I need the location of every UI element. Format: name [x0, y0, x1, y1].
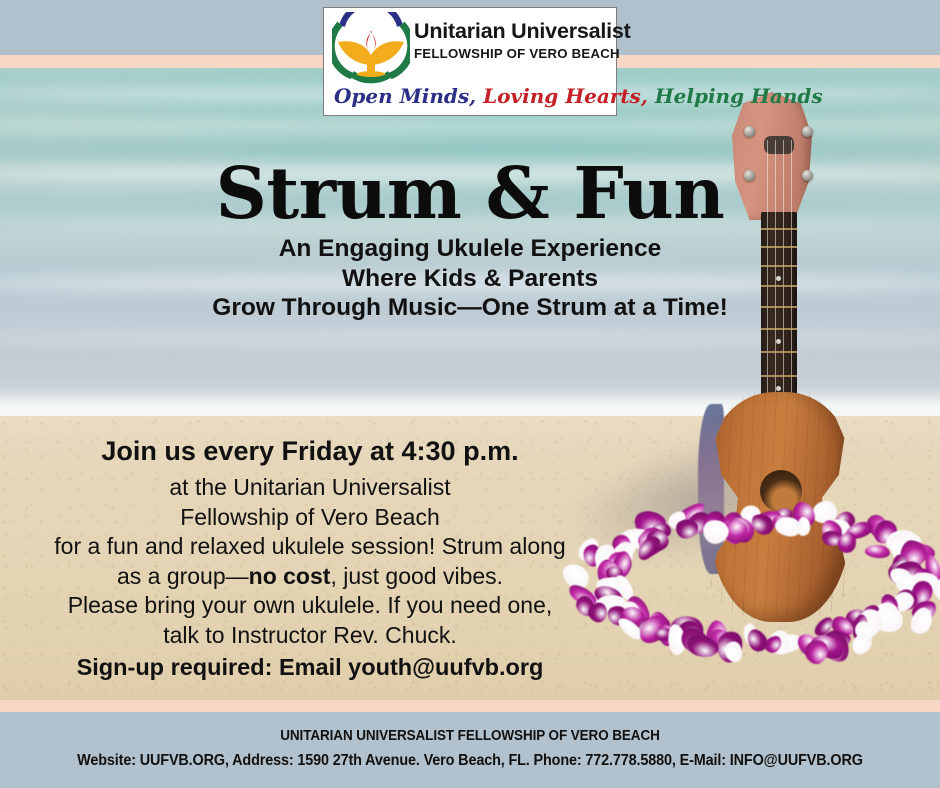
body-line-invite: for a fun and relaxed ukulele session! S…: [30, 532, 590, 562]
subhead-line: Grow Through Music—One Strum at a Time!: [0, 293, 940, 323]
fret-inlay-dot: [776, 386, 781, 391]
flaming-chalice-icon: [332, 12, 410, 86]
orchid-lei: [585, 505, 933, 655]
tagline-open-minds: Open Minds,: [334, 84, 476, 108]
headstock-logo-plate: [764, 136, 794, 154]
footer-contact-info: Website: UUFVB.ORG, Address: 1590 27th A…: [33, 752, 907, 770]
tagline-loving-hearts: Loving Hearts,: [483, 84, 648, 108]
fret: [761, 375, 797, 377]
logo-subtitle: FELLOWSHIP OF VERO BEACH: [414, 46, 631, 61]
body-line-instructor: talk to Instructor Rev. Chuck.: [30, 621, 590, 651]
uufvb-logo-box: Unitarian Universalist FELLOWSHIP OF VER…: [323, 7, 617, 116]
tuning-peg: [802, 126, 813, 137]
no-cost-emphasis: no cost: [249, 563, 331, 589]
flyer-body-copy: Join us every Friday at 4:30 p.m. at the…: [30, 434, 590, 682]
lei-petal: [675, 519, 699, 539]
logo-title: Unitarian Universalist: [414, 20, 631, 43]
tagline-helping-hands: Helping Hands: [655, 84, 823, 108]
body-line-venue-1: at the Unitarian Universalist: [30, 473, 590, 503]
bottom-peach-stripe: [0, 700, 940, 712]
cost-line-prefix: as a group—: [117, 563, 249, 589]
event-time-line: Join us every Friday at 4:30 p.m.: [30, 434, 590, 468]
flyer-headline: Strum & Fun: [0, 158, 940, 229]
logo-tagline: Open Minds, Loving Hearts, Helping Hands: [334, 86, 610, 106]
flyer-subheadline: An Engaging Ukulele Experience Where Kid…: [0, 234, 940, 323]
body-line-bring-ukulele: Please bring your own ukulele. If you ne…: [30, 591, 590, 621]
fret: [761, 351, 797, 353]
cost-line-suffix: , just good vibes.: [330, 563, 503, 589]
flyer-poster: Unitarian Universalist FELLOWSHIP OF VER…: [0, 0, 940, 788]
subhead-line: Where Kids & Parents: [0, 264, 940, 294]
tuning-peg: [744, 126, 755, 137]
body-line-venue-2: Fellowship of Vero Beach: [30, 503, 590, 533]
signup-email-line[interactable]: Sign-up required: Email youth@uufvb.org: [30, 652, 590, 682]
footer-organization-name: UNITARIAN UNIVERSALIST FELLOWSHIP OF VER…: [33, 728, 907, 744]
fret: [761, 328, 797, 330]
footer-band: UNITARIAN UNIVERSALIST FELLOWSHIP OF VER…: [0, 712, 940, 788]
fret-inlay-dot: [776, 339, 781, 344]
body-line-cost: as a group—no cost, just good vibes.: [30, 562, 590, 592]
subhead-line: An Engaging Ukulele Experience: [0, 234, 940, 264]
